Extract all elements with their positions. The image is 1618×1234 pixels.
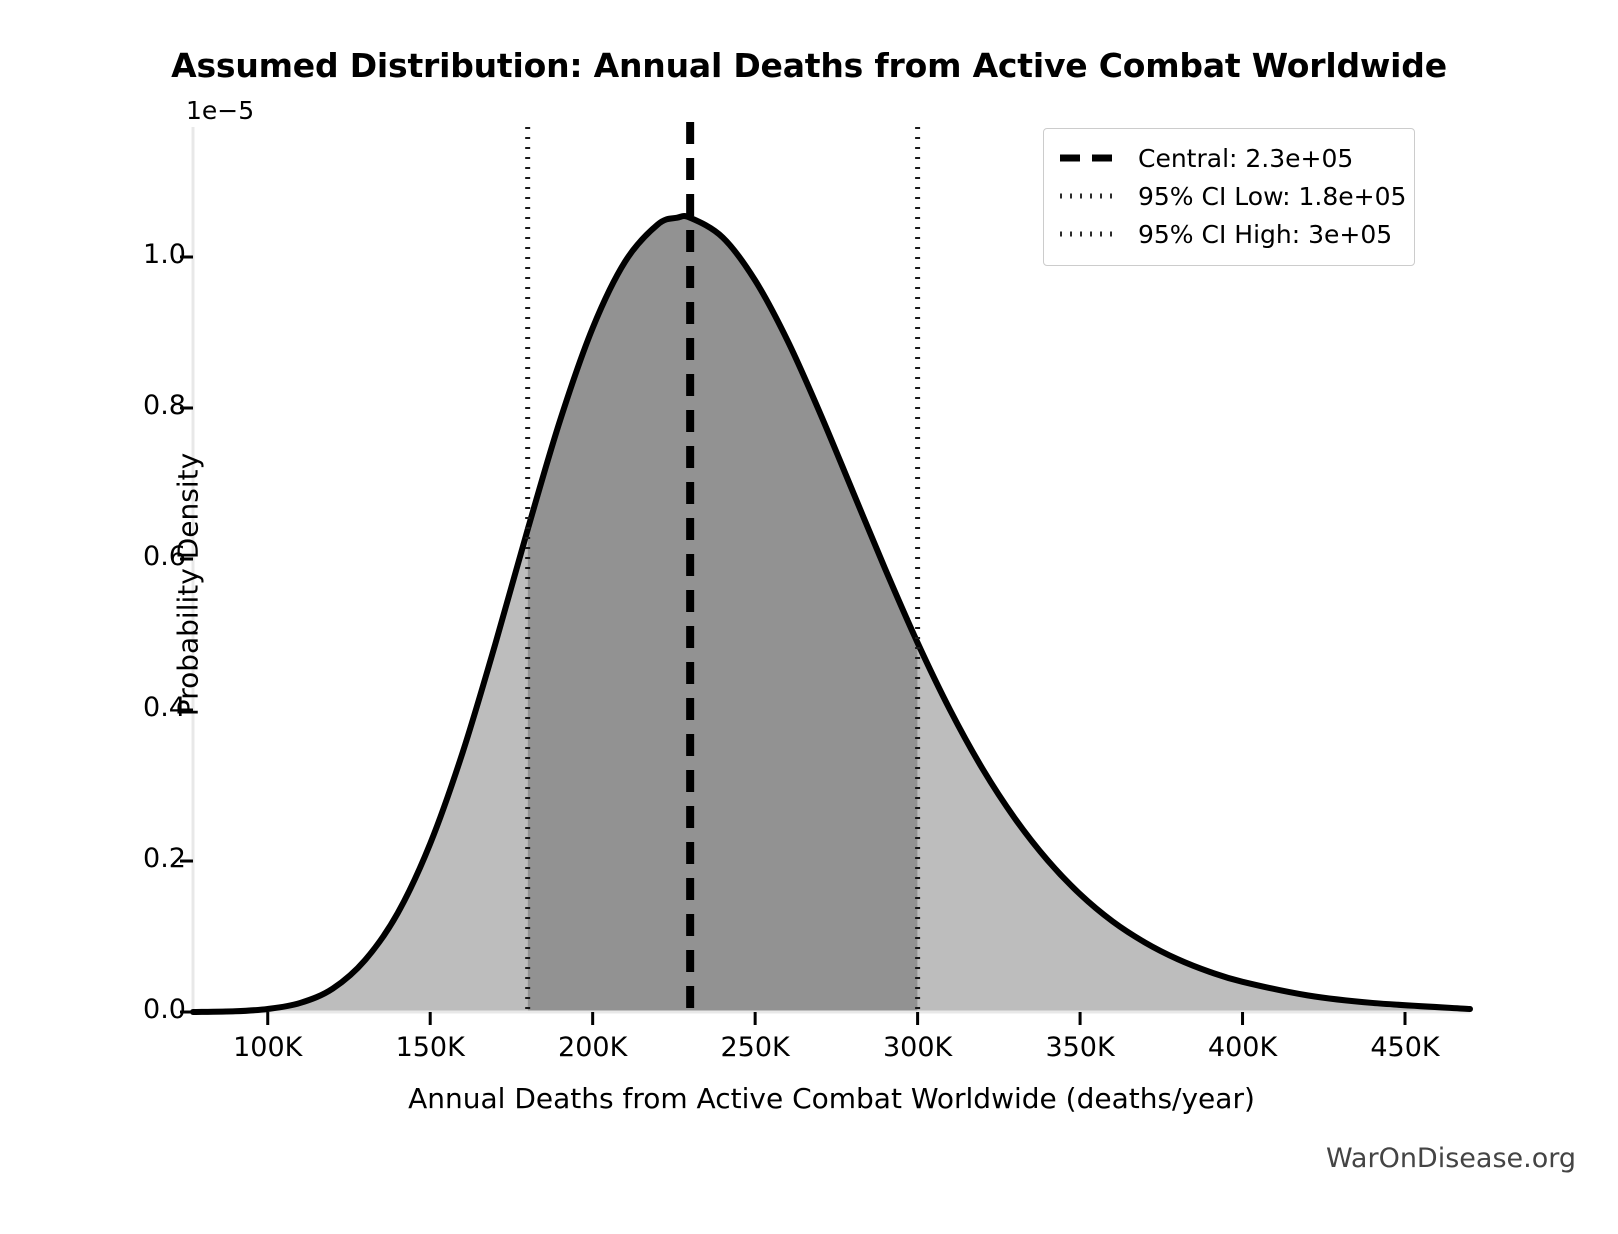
- legend-label: Central: 2.3e+05: [1138, 144, 1353, 173]
- dashed-line-icon: [1058, 148, 1120, 168]
- dotted-line-icon: [1058, 224, 1120, 244]
- y-tick-label: 0.0: [66, 994, 186, 1025]
- legend-entry-ci-high: 95% CI High: 3e+05: [1058, 215, 1400, 253]
- y-tick-label: 0.8: [66, 390, 186, 421]
- x-tick-label: 400K: [1163, 1032, 1323, 1063]
- figure-canvas: Assumed Distribution: Annual Deaths from…: [0, 0, 1618, 1234]
- x-tick-label: 300K: [838, 1032, 998, 1063]
- x-tick-label: 250K: [675, 1032, 835, 1063]
- legend-entry-central: Central: 2.3e+05: [1058, 139, 1400, 177]
- legend-entry-ci-low: 95% CI Low: 1.8e+05: [1058, 177, 1400, 215]
- density-fill-inside-ci: [193, 216, 1470, 1012]
- y-tick-label: 0.6: [66, 541, 186, 572]
- legend: Central: 2.3e+05 95% CI Low: 1.8e+05 95%…: [1043, 128, 1415, 266]
- x-tick-label: 100K: [188, 1032, 348, 1063]
- dotted-line-icon: [1058, 186, 1120, 206]
- y-axis-title: Probability Density: [172, 135, 205, 1035]
- x-axis-title: Annual Deaths from Active Combat Worldwi…: [193, 1082, 1470, 1115]
- y-tick-label: 0.2: [66, 843, 186, 874]
- y-tick-label: 1.0: [66, 239, 186, 270]
- legend-label: 95% CI High: 3e+05: [1138, 220, 1392, 249]
- density-fill-group: [193, 216, 1470, 1012]
- x-tick-label: 150K: [350, 1032, 510, 1063]
- legend-label: 95% CI Low: 1.8e+05: [1138, 182, 1406, 211]
- watermark: WarOnDisease.org: [1326, 1143, 1576, 1174]
- x-tick-label: 450K: [1325, 1032, 1485, 1063]
- y-tick-label: 0.4: [66, 692, 186, 723]
- x-tick-marks: [268, 1012, 1405, 1025]
- x-tick-label: 350K: [1000, 1032, 1160, 1063]
- x-tick-label: 200K: [513, 1032, 673, 1063]
